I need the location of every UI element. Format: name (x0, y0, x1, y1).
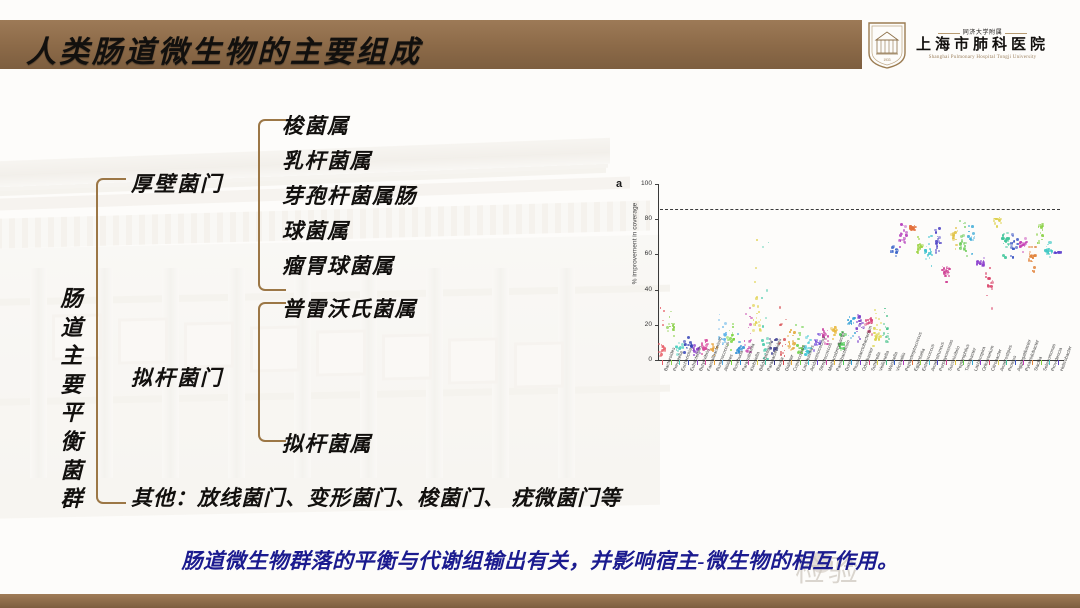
chart-data-point (755, 324, 756, 325)
chart-data-point (722, 326, 724, 328)
chart-data-point (790, 329, 792, 331)
chart-data-point (964, 226, 965, 227)
chart-x-tick-mark (757, 360, 758, 365)
chart-data-point (761, 339, 764, 342)
chart-data-point (662, 320, 664, 322)
chart-data-point (964, 222, 966, 224)
chart-data-point (783, 338, 786, 341)
chart-data-point (988, 277, 991, 280)
chart-data-point (761, 297, 764, 300)
chart-data-point (955, 244, 957, 246)
chart-data-point (1029, 251, 1031, 253)
chart-data-point (883, 323, 885, 325)
chart-data-point (833, 329, 835, 331)
chart-data-point (1046, 250, 1049, 253)
chart-data-point (927, 256, 928, 257)
chart-data-point (756, 313, 758, 315)
chart-data-point (959, 247, 962, 250)
chart-data-point (998, 219, 1000, 221)
chart-data-point (673, 323, 675, 325)
chart-plot-area (658, 184, 1062, 360)
chart-data-point (918, 238, 920, 240)
chart-data-point (930, 235, 933, 238)
chart-data-point (929, 257, 930, 258)
chart-data-point (946, 268, 947, 269)
chart-data-point (849, 316, 851, 318)
chart-data-point (874, 309, 876, 311)
chart-data-point (827, 336, 829, 338)
chart-data-point (796, 344, 798, 346)
tree-root-label: 肠道主要平衡菌群 (55, 285, 89, 514)
chart-y-tick-label: 40 (632, 286, 652, 293)
chart-data-point (718, 328, 720, 330)
chart-y-tick-mark (655, 290, 658, 291)
chart-data-point (762, 325, 765, 328)
chart-data-point (935, 231, 938, 234)
logo-name: 上海市肺科医院 (916, 38, 1049, 53)
chart-data-point (793, 344, 795, 346)
chart-data-point (1054, 251, 1056, 253)
chart-x-tick-mark (671, 360, 672, 365)
chart-data-point (856, 331, 858, 333)
chart-data-point (762, 246, 764, 248)
chart-data-point (730, 349, 732, 351)
chart-x-tick-mark (894, 360, 895, 365)
chart-data-point (852, 335, 854, 337)
chart-data-point (895, 255, 897, 257)
chart-x-tick-mark (722, 360, 723, 365)
chart-data-point (1031, 261, 1033, 263)
chart-data-point (833, 334, 836, 337)
chart-x-tick-mark (998, 360, 999, 365)
chart-data-point (858, 336, 860, 338)
chart-x-tick-mark (783, 360, 784, 365)
chart-data-point (983, 257, 985, 259)
hospital-logo: 1933 同济大学附属 上海市肺科医院 Shanghai Pulmonary H… (866, 16, 1076, 74)
chart-data-point (954, 231, 956, 233)
chart-data-point (985, 272, 987, 274)
chart-data-point (992, 280, 993, 281)
branch-label-bacteroidetes: 拟杆菌门 (131, 362, 223, 392)
chart-data-point (660, 307, 661, 308)
chart-data-point (834, 330, 837, 333)
chart-data-point (662, 324, 664, 326)
chart-data-point (749, 323, 752, 326)
leaf-label-ruminococcus: 瘤胃球菌属 (282, 250, 395, 280)
chart-x-tick-mark (800, 360, 801, 365)
chart-data-point (827, 330, 828, 331)
chart-data-point (853, 322, 855, 324)
chart-data-point (873, 327, 875, 329)
chart-data-point (990, 285, 993, 288)
chart-data-point (876, 324, 878, 326)
chart-data-point (859, 338, 861, 340)
chart-data-point (780, 323, 783, 326)
chart-data-point (817, 333, 819, 335)
chart-data-point (976, 263, 978, 265)
chart-data-point (667, 330, 669, 332)
chart-data-point (792, 335, 794, 337)
chart-data-point (658, 343, 659, 344)
chart-data-point (730, 340, 733, 343)
chart-data-point (925, 258, 927, 260)
chart-data-point (1012, 242, 1013, 243)
chart-data-point (874, 338, 877, 341)
chart-data-point (876, 329, 877, 330)
chart-data-point (878, 318, 880, 320)
chart-y-tick-mark (655, 219, 658, 220)
chart-data-point (807, 335, 809, 337)
chart-data-point (886, 327, 889, 330)
chart-data-point (832, 338, 834, 340)
chart-y-tick-label: 100 (632, 180, 652, 187)
chart-x-tick-mark (937, 360, 938, 365)
chart-data-point (738, 341, 740, 343)
chart-data-point (946, 281, 947, 282)
chart-x-tick-mark (920, 360, 921, 365)
chart-x-tick-mark (1058, 360, 1059, 365)
chart-data-point (822, 328, 825, 331)
logo-english-name: Shanghai Pulmonary Hospital Tongji Unive… (929, 55, 1037, 60)
chart-data-point (1021, 245, 1023, 247)
chart-data-point (983, 262, 984, 263)
chart-data-point (973, 237, 975, 239)
chart-x-tick-mark (946, 360, 947, 365)
chart-data-point (931, 265, 932, 266)
chart-data-point (882, 335, 884, 337)
chart-data-point (935, 251, 938, 254)
chart-data-point (884, 312, 886, 314)
chart-x-tick-mark (1032, 360, 1033, 365)
chart-data-point (1042, 229, 1043, 230)
chart-data-point (678, 342, 680, 344)
chart-y-tick-mark (655, 184, 658, 185)
chart-data-point (1047, 244, 1049, 246)
chart-data-point (862, 326, 865, 329)
chart-data-point (732, 323, 734, 325)
chart-data-point (1002, 234, 1004, 236)
chart-x-tick-mark (1049, 360, 1050, 365)
chart-data-point (920, 248, 922, 250)
chart-data-point (963, 247, 966, 250)
chart-data-point (1003, 243, 1004, 244)
chart-data-point (1005, 239, 1007, 241)
chart-data-point (737, 333, 739, 335)
chart-data-point (1015, 246, 1018, 249)
chart-data-point (801, 326, 803, 328)
chart-data-point (782, 345, 784, 347)
leaf-label-clostridium: 梭菌属 (282, 110, 350, 140)
chart-data-point (752, 329, 755, 332)
chart-data-point (834, 326, 835, 327)
chart-data-point (856, 328, 858, 330)
chart-data-point (755, 267, 757, 269)
chart-data-point (857, 340, 860, 343)
chart-data-point (920, 245, 921, 246)
chart-data-point (729, 330, 730, 331)
chart-data-point (987, 284, 989, 286)
chart-data-point (924, 252, 926, 254)
chart-data-point (892, 245, 895, 248)
chart-data-point (757, 305, 759, 307)
chart-data-point (875, 313, 877, 315)
chart-data-point (759, 328, 761, 330)
branch-label-firmicutes: 厚壁菌门 (131, 168, 223, 198)
chart-data-point (1038, 226, 1040, 228)
taxonomy-tree: 肠道主要平衡菌群 厚壁菌门 梭菌属 乳杆菌属 芽孢杆菌属肠 球菌属 瘤胃球菌属 … (0, 90, 620, 530)
chart-data-point (780, 351, 782, 353)
leaf-label-coccus: 球菌属 (282, 215, 350, 245)
chart-data-point (886, 315, 888, 317)
chart-data-point (682, 346, 684, 348)
chart-data-point (912, 227, 915, 230)
chart-data-point (823, 332, 825, 334)
chart-data-point (762, 343, 765, 346)
chart-x-tick-mark (972, 360, 973, 365)
chart-x-tick-mark (980, 360, 981, 365)
chart-data-point (663, 310, 666, 313)
chart-data-point (765, 317, 767, 319)
chart-x-tick-mark (697, 360, 698, 365)
chart-data-point (965, 250, 968, 253)
chart-x-tick-mark (662, 360, 663, 365)
chart-data-point (756, 317, 757, 318)
svg-text:1933: 1933 (883, 58, 890, 62)
chart-x-tick-mark (808, 360, 809, 365)
chart-data-point (754, 281, 756, 283)
chart-data-point (766, 289, 768, 291)
chart-data-point (886, 335, 889, 338)
chart-data-point (659, 355, 662, 358)
chart-data-point (749, 307, 751, 309)
chart-data-point (785, 344, 786, 345)
chart-data-point (875, 317, 878, 320)
chart-data-point (968, 225, 970, 227)
chart-x-tick-mark (791, 360, 792, 365)
chart-data-point (938, 227, 940, 229)
chart-data-point (1022, 251, 1024, 253)
chart-data-point (748, 327, 749, 328)
chart-x-tick-mark (834, 360, 835, 365)
bacteroidetes-bracket (258, 302, 286, 442)
chart-data-point (809, 339, 811, 341)
slide-root: 人类肠道微生物的主要组成 1933 同济大学附属 上海市肺科医院 Shangha… (0, 0, 1080, 608)
chart-data-point (1042, 223, 1044, 225)
chart-data-point (1048, 241, 1051, 244)
chart-x-tick-mark (679, 360, 680, 365)
chart-data-point (1031, 246, 1032, 247)
chart-data-point (848, 335, 849, 336)
chart-data-point (899, 234, 901, 236)
chart-data-point (899, 246, 901, 248)
chart-data-point (758, 324, 761, 327)
chart-data-point (1000, 222, 1002, 224)
chart-data-point (687, 336, 690, 339)
chart-data-point (684, 343, 687, 346)
chart-data-point (792, 349, 793, 350)
chart-data-point (1032, 257, 1033, 258)
chart-x-tick-mark (1015, 360, 1016, 365)
chart-x-tick-mark (912, 360, 913, 365)
chart-data-point (946, 270, 949, 273)
chart-data-point (718, 319, 720, 321)
chart-x-tick-mark (1041, 360, 1042, 365)
chart-y-tick-mark (655, 325, 658, 326)
chart-data-point (1033, 266, 1036, 269)
chart-data-point (991, 288, 993, 290)
chart-data-point (789, 331, 791, 333)
chart-x-tick-mark (989, 360, 990, 365)
chart-data-point (744, 344, 745, 345)
chart-data-point (905, 231, 908, 234)
chart-data-point (785, 319, 787, 321)
chart-data-point (904, 225, 907, 228)
chart-data-point (784, 350, 785, 351)
chart-data-point (924, 249, 927, 252)
chart-data-point (669, 316, 671, 318)
chart-data-point (955, 227, 957, 229)
chart-data-point (689, 341, 692, 344)
chart-data-point (1002, 254, 1005, 257)
chart-data-point (917, 236, 919, 238)
chart-x-tick-mark (688, 360, 689, 365)
chart-data-point (903, 229, 905, 231)
chart-data-point (971, 253, 974, 256)
root-bracket (96, 178, 126, 504)
chart-data-point (726, 336, 729, 339)
chart-data-point (732, 326, 734, 328)
chart-data-point (938, 250, 940, 252)
chart-x-tick-mark (1023, 360, 1024, 365)
page-title: 人类肠道微生物的主要组成 (26, 27, 422, 71)
chart-data-point (1058, 251, 1061, 254)
chart-x-tick-mark (1006, 360, 1007, 365)
chart-data-point (928, 243, 930, 245)
chart-x-tick-mark (826, 360, 827, 365)
chart-data-point (955, 248, 957, 250)
chart-data-point (903, 237, 906, 240)
chart-data-point (782, 352, 784, 354)
chart-y-tick-label: 60 (632, 250, 652, 257)
chart-x-tick-mark (740, 360, 741, 365)
chart-data-point (879, 329, 881, 331)
chart-data-point (742, 346, 745, 349)
chart-x-tick-mark (843, 360, 844, 365)
chart-data-point (990, 282, 992, 284)
chart-data-point (930, 253, 932, 255)
chart-data-point (758, 311, 760, 313)
chart-data-point (1041, 234, 1044, 237)
shield-crest-icon: 1933 (866, 20, 908, 70)
chart-data-point (871, 323, 872, 324)
chart-data-point (787, 335, 789, 337)
chart-data-point (1019, 242, 1021, 244)
chart-data-point (989, 267, 991, 269)
chart-data-point (792, 340, 794, 342)
chart-data-point (1005, 246, 1008, 249)
chart-data-point (957, 230, 959, 232)
chart-data-point (744, 340, 746, 342)
chart-x-tick-mark (817, 360, 818, 365)
chart-y-tick-mark (655, 254, 658, 255)
chart-data-point (1046, 246, 1047, 247)
chart-data-point (858, 316, 860, 318)
leaf-label-bacillus: 芽孢杆菌属肠 (282, 180, 417, 210)
chart-data-point (1041, 239, 1043, 241)
panel-label-a: a (616, 178, 622, 190)
chart-data-point (976, 261, 978, 263)
chart-data-point (719, 314, 720, 315)
chart-data-point (756, 239, 757, 240)
chart-data-point (797, 338, 799, 340)
chart-data-point (936, 247, 938, 249)
logo-affiliation: 同济大学附属 (963, 30, 1003, 36)
leaf-label-prevotella: 普雷沃氏菌属 (282, 293, 417, 323)
chart-x-tick-mark (886, 360, 887, 365)
chart-data-point (966, 255, 968, 257)
chart-x-tick-mark (860, 360, 861, 365)
chart-data-point (937, 238, 939, 240)
chart-data-point (880, 322, 882, 324)
chart-data-point (972, 232, 975, 235)
chart-data-point (982, 264, 985, 267)
chart-data-point (780, 353, 782, 355)
chart-data-point (959, 220, 961, 222)
chart-data-point (1038, 240, 1039, 241)
chart-data-point (795, 324, 798, 327)
coverage-improvement-chart: a % improvement in coverage 020406080100… (612, 176, 1074, 376)
logo-affiliation-row: 同济大学附属 (938, 30, 1028, 36)
leaf-label-lactobacillus: 乳杆菌属 (282, 145, 372, 175)
chart-x-tick-mark (714, 360, 715, 365)
chart-data-point (779, 306, 782, 309)
chart-data-point (948, 275, 950, 277)
other-phyla-line: 其他：放线菌门、变形菌门、梭菌门、 疣微菌门等 (131, 482, 621, 512)
chart-data-point (1034, 246, 1036, 248)
chart-x-tick-mark (851, 360, 852, 365)
chart-data-point (960, 235, 963, 238)
chart-data-point (1038, 242, 1040, 244)
chart-data-point (917, 253, 918, 254)
chart-data-point (753, 319, 755, 321)
chart-data-point (789, 343, 790, 344)
chart-data-point (850, 320, 852, 322)
chart-data-point (885, 340, 888, 343)
chart-data-point (991, 307, 994, 310)
chart-data-point (1049, 256, 1051, 258)
chart-data-point (672, 328, 674, 330)
chart-x-tick-mark (748, 360, 749, 365)
chart-x-tick-mark (869, 360, 870, 365)
chart-data-point (670, 311, 672, 313)
chart-data-point (673, 335, 675, 337)
chart-data-point (1006, 232, 1009, 235)
chart-data-point (768, 242, 770, 244)
chart-data-point (996, 225, 999, 228)
chart-data-point (669, 326, 670, 327)
chart-data-point (752, 304, 755, 307)
chart-data-point (968, 231, 970, 233)
chart-data-point (878, 338, 880, 340)
footer-bar (0, 594, 1080, 608)
chart-x-tick-labels: BacteroidesPrevotellaEscherichiaEubacter… (658, 368, 1068, 458)
chart-data-point (1030, 255, 1032, 257)
chart-data-point (972, 239, 974, 241)
chart-y-tick-label: 20 (632, 321, 652, 328)
chart-data-point (926, 246, 927, 247)
chart-data-point (896, 251, 898, 253)
slide-caption: 肠道微生物群落的平衡与代谢组输出有关，并影响宿主-微生物的相互作用。 (0, 545, 1080, 575)
